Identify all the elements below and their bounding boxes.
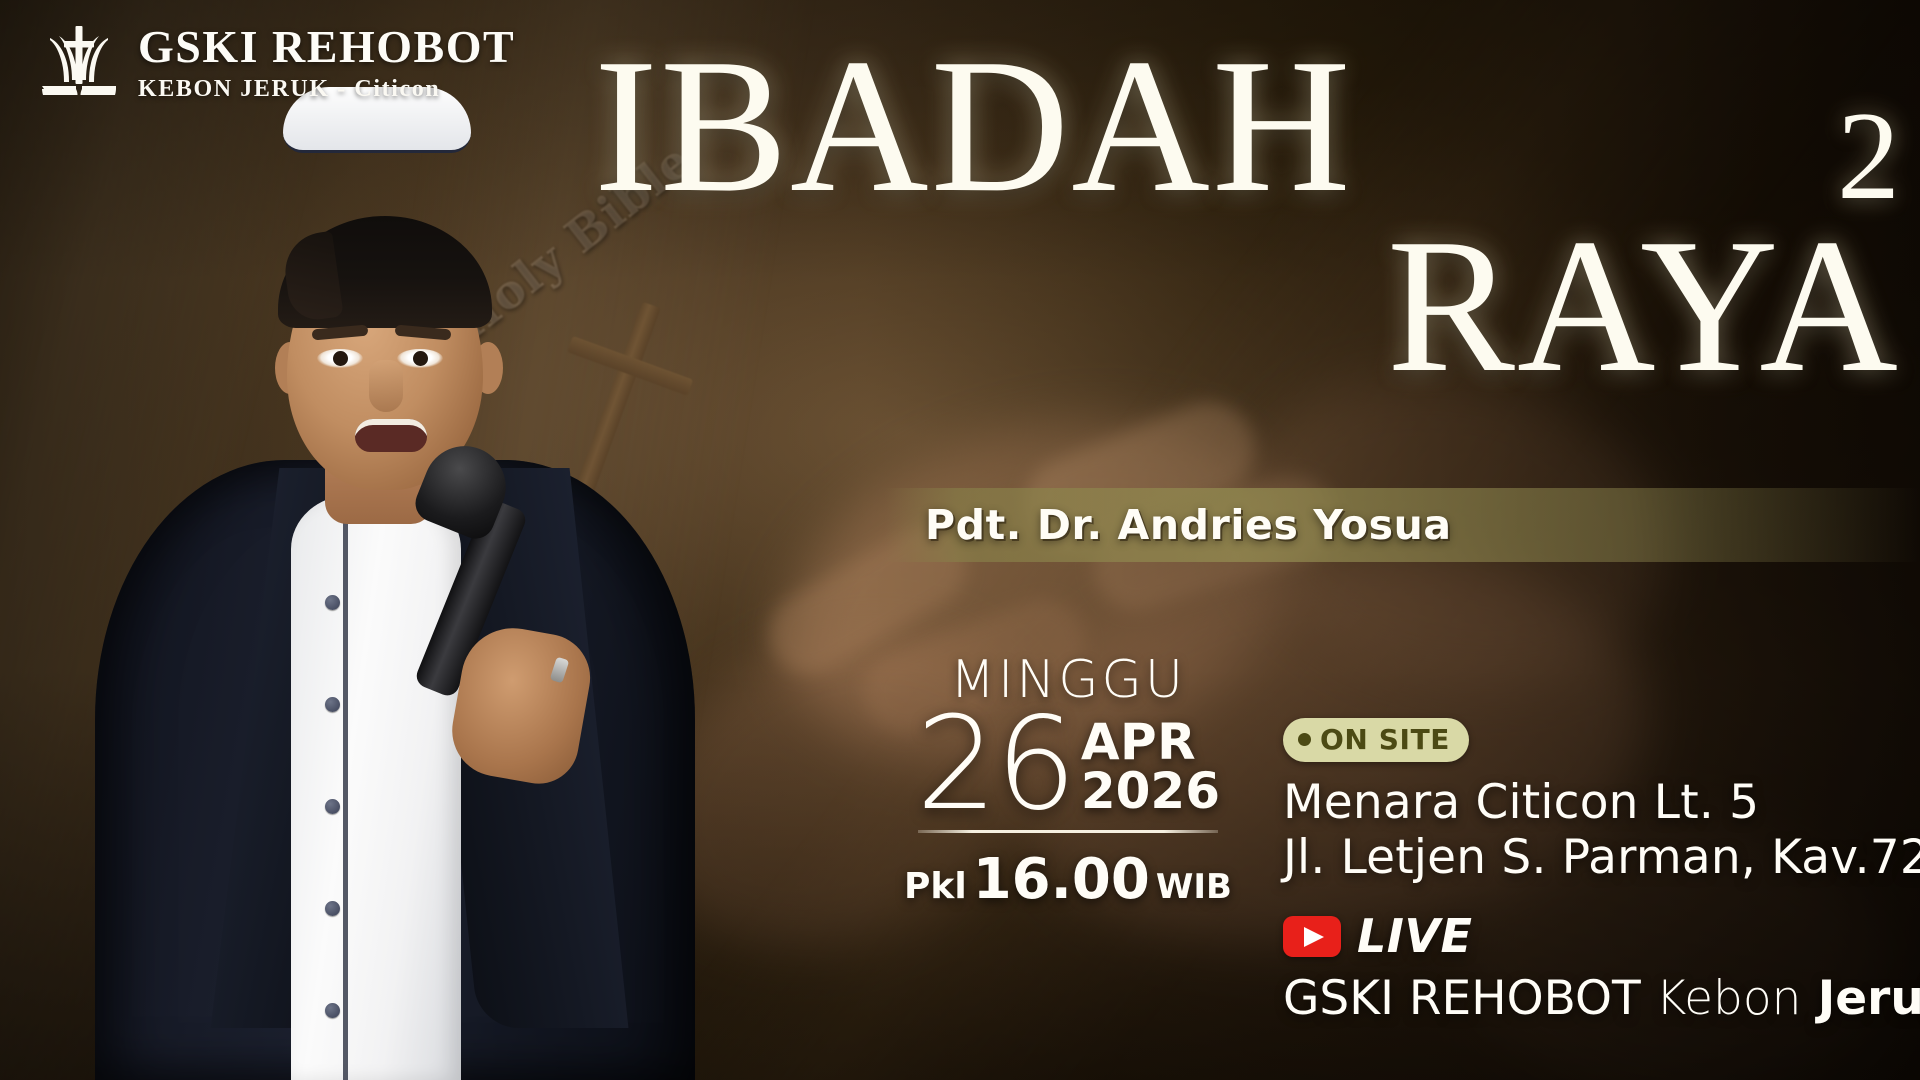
speaker-nose	[369, 360, 403, 412]
title-superscript: 2	[1837, 94, 1902, 220]
time-value: 16.00	[973, 847, 1150, 912]
shirt-button	[325, 799, 340, 814]
channel-part-1: GSKI REHOBOT	[1283, 971, 1641, 1026]
time-row: Pkl16.00WIB	[888, 847, 1248, 912]
timezone-label: WIB	[1156, 867, 1232, 907]
channel-part-2-wrap	[1641, 971, 1656, 1026]
venue-address-line-1: Menara Citicon Lt. 5	[1283, 776, 1920, 831]
day-number: 26	[916, 706, 1075, 824]
church-name: GSKI REHOBOT	[138, 24, 515, 70]
venue-address-line-2: Jl. Letjen S. Parman, Kav.72	[1283, 831, 1920, 886]
channel-part-3-wrap	[1801, 971, 1817, 1026]
channel-part-2: Kebon	[1656, 971, 1802, 1026]
on-site-badge: ON SITE	[1283, 718, 1469, 762]
shirt-button	[325, 901, 340, 916]
title-line-2: RAYA	[1387, 199, 1900, 412]
live-label: LIVE	[1357, 909, 1472, 963]
speaker-name: Pdt. Dr. Andries Yosua	[885, 488, 1920, 562]
channel-name: GSKI REHOBOT Kebon Jeruk	[1283, 971, 1920, 1026]
event-banner: Holy Bible	[0, 0, 1920, 1080]
channel-part-3: Jeruk	[1818, 971, 1920, 1026]
shirt-button	[325, 697, 340, 712]
date-row: 26 APR 2026	[888, 706, 1248, 824]
venue-block: ON SITE Menara Citicon Lt. 5 Jl. Letjen …	[1283, 718, 1920, 1026]
church-logo: GSKI REHOBOT KEBON JERUK - Citicon	[38, 22, 515, 102]
live-row: LIVE	[1283, 909, 1920, 963]
schedule-block: MINGGU 26 APR 2026 Pkl16.00WIB	[888, 650, 1248, 912]
event-title: IBADAH RAYA 2	[590, 36, 1900, 397]
speaker-shirt	[291, 495, 461, 1080]
speaker-name-band: Pdt. Dr. Andries Yosua	[885, 488, 1920, 562]
shirt-button	[325, 1003, 340, 1018]
month-label: APR	[1081, 718, 1220, 766]
title-line-2-wrapper: RAYA 2	[590, 216, 1900, 396]
speaker-hair	[278, 216, 492, 328]
title-line-1: IBADAH	[590, 36, 1900, 216]
year-label: 2026	[1081, 766, 1220, 817]
church-branch: KEBON JERUK - Citicon	[138, 77, 515, 101]
speaker-mouth	[355, 419, 427, 452]
time-prefix: Pkl	[904, 866, 967, 907]
on-site-label: ON SITE	[1320, 723, 1450, 756]
speaker-pupil	[413, 351, 428, 366]
cross-open-book-icon	[38, 22, 120, 102]
shirt-button	[325, 595, 340, 610]
youtube-icon[interactable]	[1283, 916, 1341, 957]
speaker-pupil	[333, 351, 348, 366]
bullet-dot-icon	[1298, 733, 1311, 746]
shirt-placket	[343, 502, 348, 1080]
